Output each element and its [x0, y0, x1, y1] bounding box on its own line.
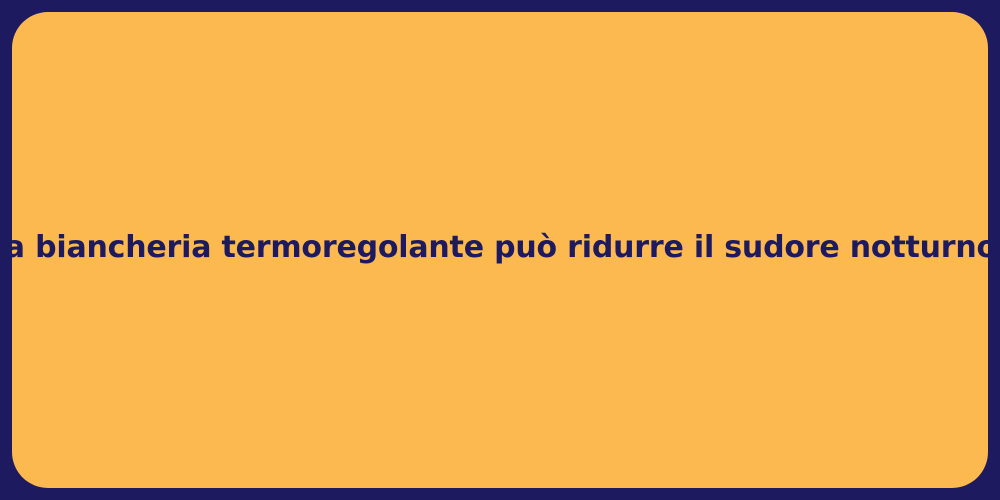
- question-card-canvas: La biancheria termoregolante può ridurre…: [0, 0, 1000, 500]
- question-card: La biancheria termoregolante può ridurre…: [12, 12, 988, 488]
- question-headline: La biancheria termoregolante può ridurre…: [0, 229, 1000, 267]
